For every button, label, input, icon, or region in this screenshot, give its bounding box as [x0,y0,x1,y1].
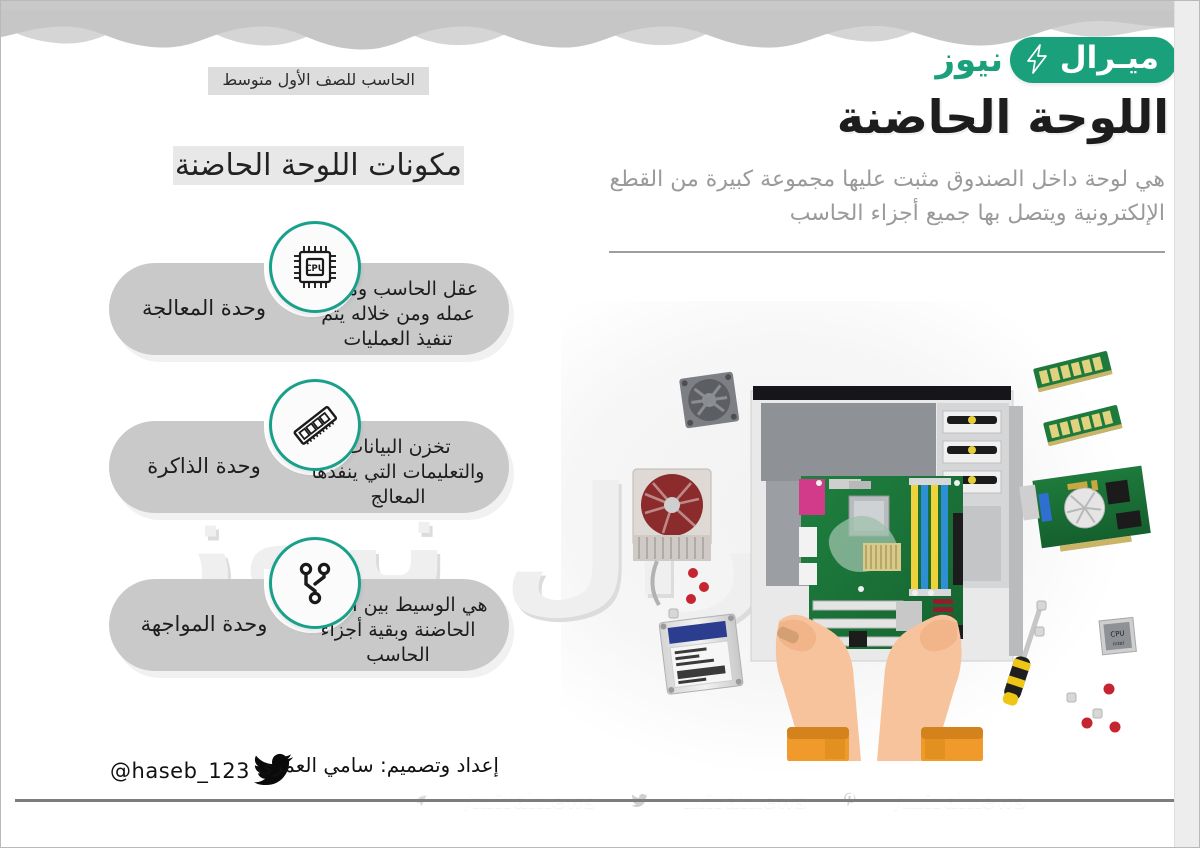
right-frame-band [1174,1,1199,848]
lightning-bolt-icon [1024,44,1050,74]
pc-assembly-illustration: CPU intel [601,331,1200,761]
credit-text: إعداد وتصميم: سامي العمري [257,753,499,777]
section-title: مكونات اللوحة الحاضنة [173,151,464,181]
cpu-chip: CPU intel [1099,617,1136,654]
interface-node-icon [269,537,361,629]
section-title-text: مكونات اللوحة الحاضنة [173,146,464,185]
infographic-page: ميرال نيوز ميـرال نيوز اللوحة الحاضنة هي… [0,0,1200,848]
brand-name: ميـرال [1060,43,1159,74]
cpu-cooler [633,469,711,605]
ram-stick-1 [1033,351,1113,393]
cpu-chip-icon: CPU [269,221,361,313]
subject-tag: الحاسب للصف الأول متوسط [208,67,429,95]
component-label-0: وحدة المعالجة [129,296,279,321]
ram-memory-icon [269,379,361,471]
brand-news-word: نيوز [935,43,1003,77]
brand-badge: ميـرال [1010,37,1177,83]
ram-stick-2 [1043,405,1123,447]
description-divider [609,251,1165,253]
page-description: هي لوحة داخل الصندوق مثبت عليها مجموعة ك… [605,163,1165,231]
graphics-card [1019,466,1152,557]
twitter-handle: @haseb_123 [110,759,250,783]
component-row-1: وحدة الذاكرة تخزن البيانات والتعليمات ال… [109,421,509,521]
svg-text:intel: intel [1113,641,1125,648]
page-title: اللوحة الحاضنة [837,93,1169,141]
component-row-0: وحدة المعالجة عقل الحاسب ومركز عمله ومن … [109,263,509,363]
component-row-2: وحدة المواجهة هي الوسيط بين اللوحة الحاض… [109,579,509,679]
case-fan [679,371,739,428]
hard-disk-drive [659,614,743,695]
cpu-icon-text: CPU [305,264,324,274]
footer-divider [15,799,1187,802]
component-label-1: وحدة الذاكرة [129,454,279,479]
svg-text:CPU: CPU [1110,629,1125,638]
component-label-2: وحدة المواجهة [129,612,279,637]
